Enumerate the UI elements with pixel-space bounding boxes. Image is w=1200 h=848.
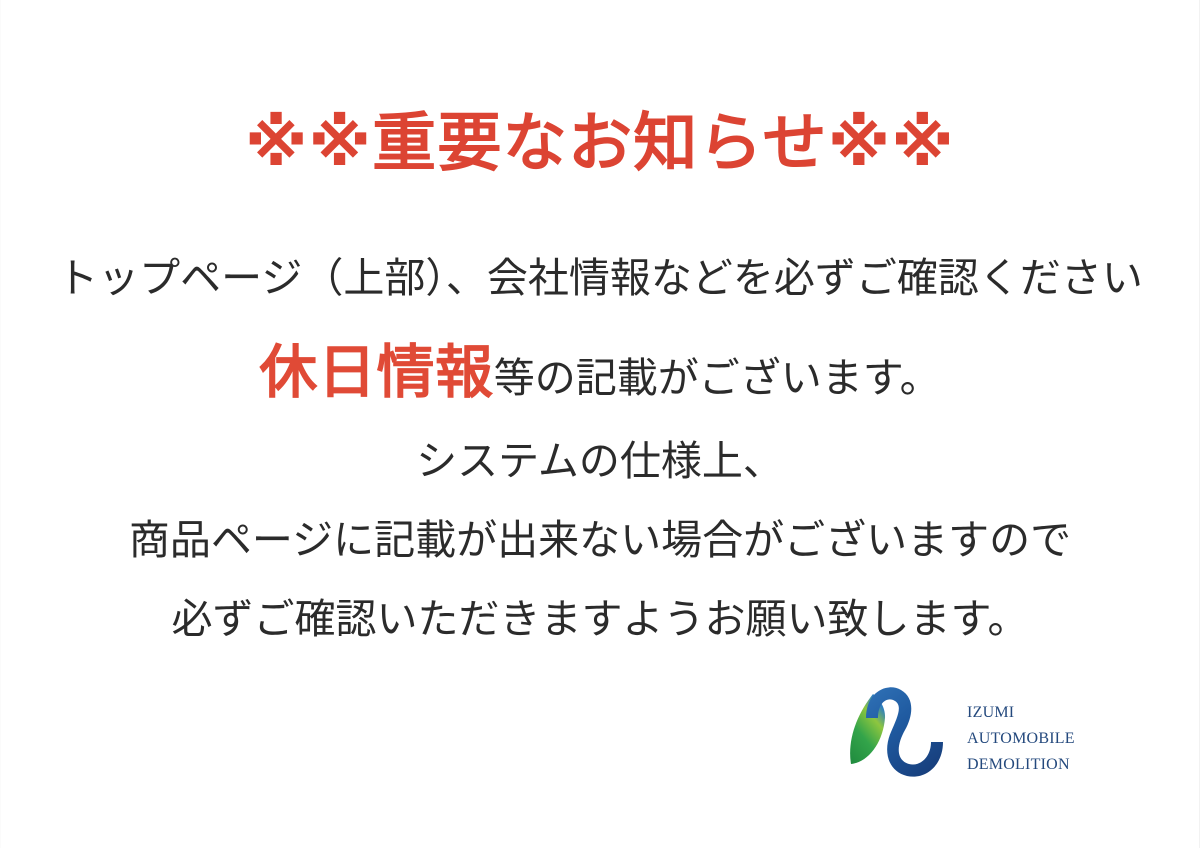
notice-line-4: 商品ページに記載が出来ない場合がございますので bbox=[1, 520, 1199, 561]
logo-word-automobile: Automobile bbox=[967, 723, 1075, 749]
page-title: ※※重要なお知らせ※※ bbox=[1, 112, 1199, 176]
notice-sheet: ※※重要なお知らせ※※ トップページ（上部）、会社情報などを必ずご確認ください … bbox=[0, 0, 1200, 848]
notice-line-5: 必ずご確認いただきますようお願い致します。 bbox=[1, 599, 1199, 640]
izumi-swirl-leaf-mark-icon bbox=[839, 674, 957, 792]
notice-line-2-text: 等の記載がございます。 bbox=[494, 354, 941, 402]
logo-word-izumi: Izumi bbox=[967, 697, 1075, 723]
notice-body: トップページ（上部）、会社情報などを必ずご確認ください 休日情報等の記載がござい… bbox=[1, 258, 1199, 640]
logo-word-demolition: Demolition bbox=[967, 749, 1075, 775]
company-logo: Izumi Automobile Demolition bbox=[839, 672, 1129, 794]
notice-line-1: トップページ（上部）、会社情報などを必ずご確認ください bbox=[1, 258, 1199, 299]
notice-line-3: システムの仕様上、 bbox=[1, 441, 1199, 482]
logo-wordmark: Izumi Automobile Demolition bbox=[967, 691, 1075, 774]
notice-line-2: 休日情報等の記載がございます。 bbox=[1, 343, 1199, 401]
holiday-info-emphasis: 休日情報 bbox=[259, 338, 493, 406]
